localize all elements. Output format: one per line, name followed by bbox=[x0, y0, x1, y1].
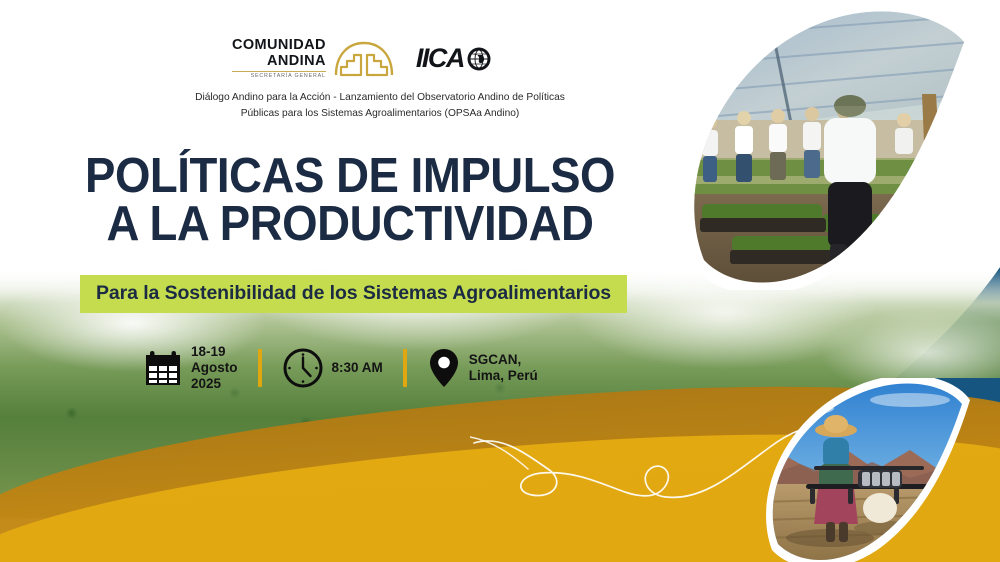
event-time-text: 8:30 AM bbox=[332, 360, 383, 376]
decorative-squiggle-icon bbox=[470, 425, 800, 545]
event-time-item: 8:30 AM bbox=[282, 347, 383, 389]
event-subtitle: Diálogo Andino para la Acción - Lanzamie… bbox=[100, 90, 660, 122]
iica-logo: IICA bbox=[416, 43, 492, 74]
leaf-photo-greenhouse bbox=[672, 8, 972, 290]
comunidad-andina-logo: COMUNIDAD ANDINA SECRETARÍA GENERAL bbox=[232, 38, 394, 79]
comunidad-andina-line2: ANDINA bbox=[232, 54, 326, 69]
leaf-photo-drone bbox=[760, 378, 970, 562]
page-title-line1: POLÍTICAS DE IMPULSO bbox=[25, 152, 676, 200]
detail-divider-2 bbox=[403, 349, 407, 387]
event-location-item: SGCAN, Lima, Perú bbox=[427, 347, 538, 389]
tagline-banner: Para la Sostenibilidad de los Sistemas A… bbox=[80, 275, 627, 313]
globe-icon bbox=[466, 46, 492, 72]
comunidad-andina-line1: COMUNIDAD bbox=[232, 38, 326, 53]
event-date-item: 18-19 Agosto 2025 bbox=[143, 344, 238, 392]
event-details-strip: 18-19 Agosto 2025 8:30 AM bbox=[143, 344, 538, 392]
detail-divider-1 bbox=[258, 349, 262, 387]
event-date-line2: Agosto bbox=[191, 360, 238, 376]
page-title-line2: A LA PRODUCTIVIDAD bbox=[25, 200, 676, 248]
page-title: POLÍTICAS DE IMPULSO A LA PRODUCTIVIDAD bbox=[25, 152, 676, 248]
andean-arch-icon bbox=[334, 41, 394, 77]
location-pin-icon bbox=[427, 347, 461, 389]
comunidad-andina-line3: SECRETARÍA GENERAL bbox=[232, 71, 326, 79]
event-location-text: SGCAN, Lima, Perú bbox=[469, 352, 538, 384]
event-date-line3: 2025 bbox=[191, 376, 238, 392]
iica-wordmark: IICA bbox=[416, 43, 464, 74]
event-subtitle-line1: Diálogo Andino para la Acción - Lanzamie… bbox=[100, 90, 660, 106]
event-date-line1: 18-19 bbox=[191, 344, 238, 360]
event-time-line1: 8:30 AM bbox=[332, 360, 383, 376]
clock-icon bbox=[282, 347, 324, 389]
event-location-line2: Lima, Perú bbox=[469, 368, 538, 384]
event-subtitle-line2: Públicas para los Sistemas Agroalimentar… bbox=[100, 106, 660, 122]
event-poster: COMUNIDAD ANDINA SECRETARÍA GENERAL IICA bbox=[0, 0, 1000, 562]
calendar-icon bbox=[143, 348, 183, 388]
logo-row: COMUNIDAD ANDINA SECRETARÍA GENERAL IICA bbox=[232, 38, 492, 79]
event-location-line1: SGCAN, bbox=[469, 352, 538, 368]
event-date-text: 18-19 Agosto 2025 bbox=[191, 344, 238, 392]
